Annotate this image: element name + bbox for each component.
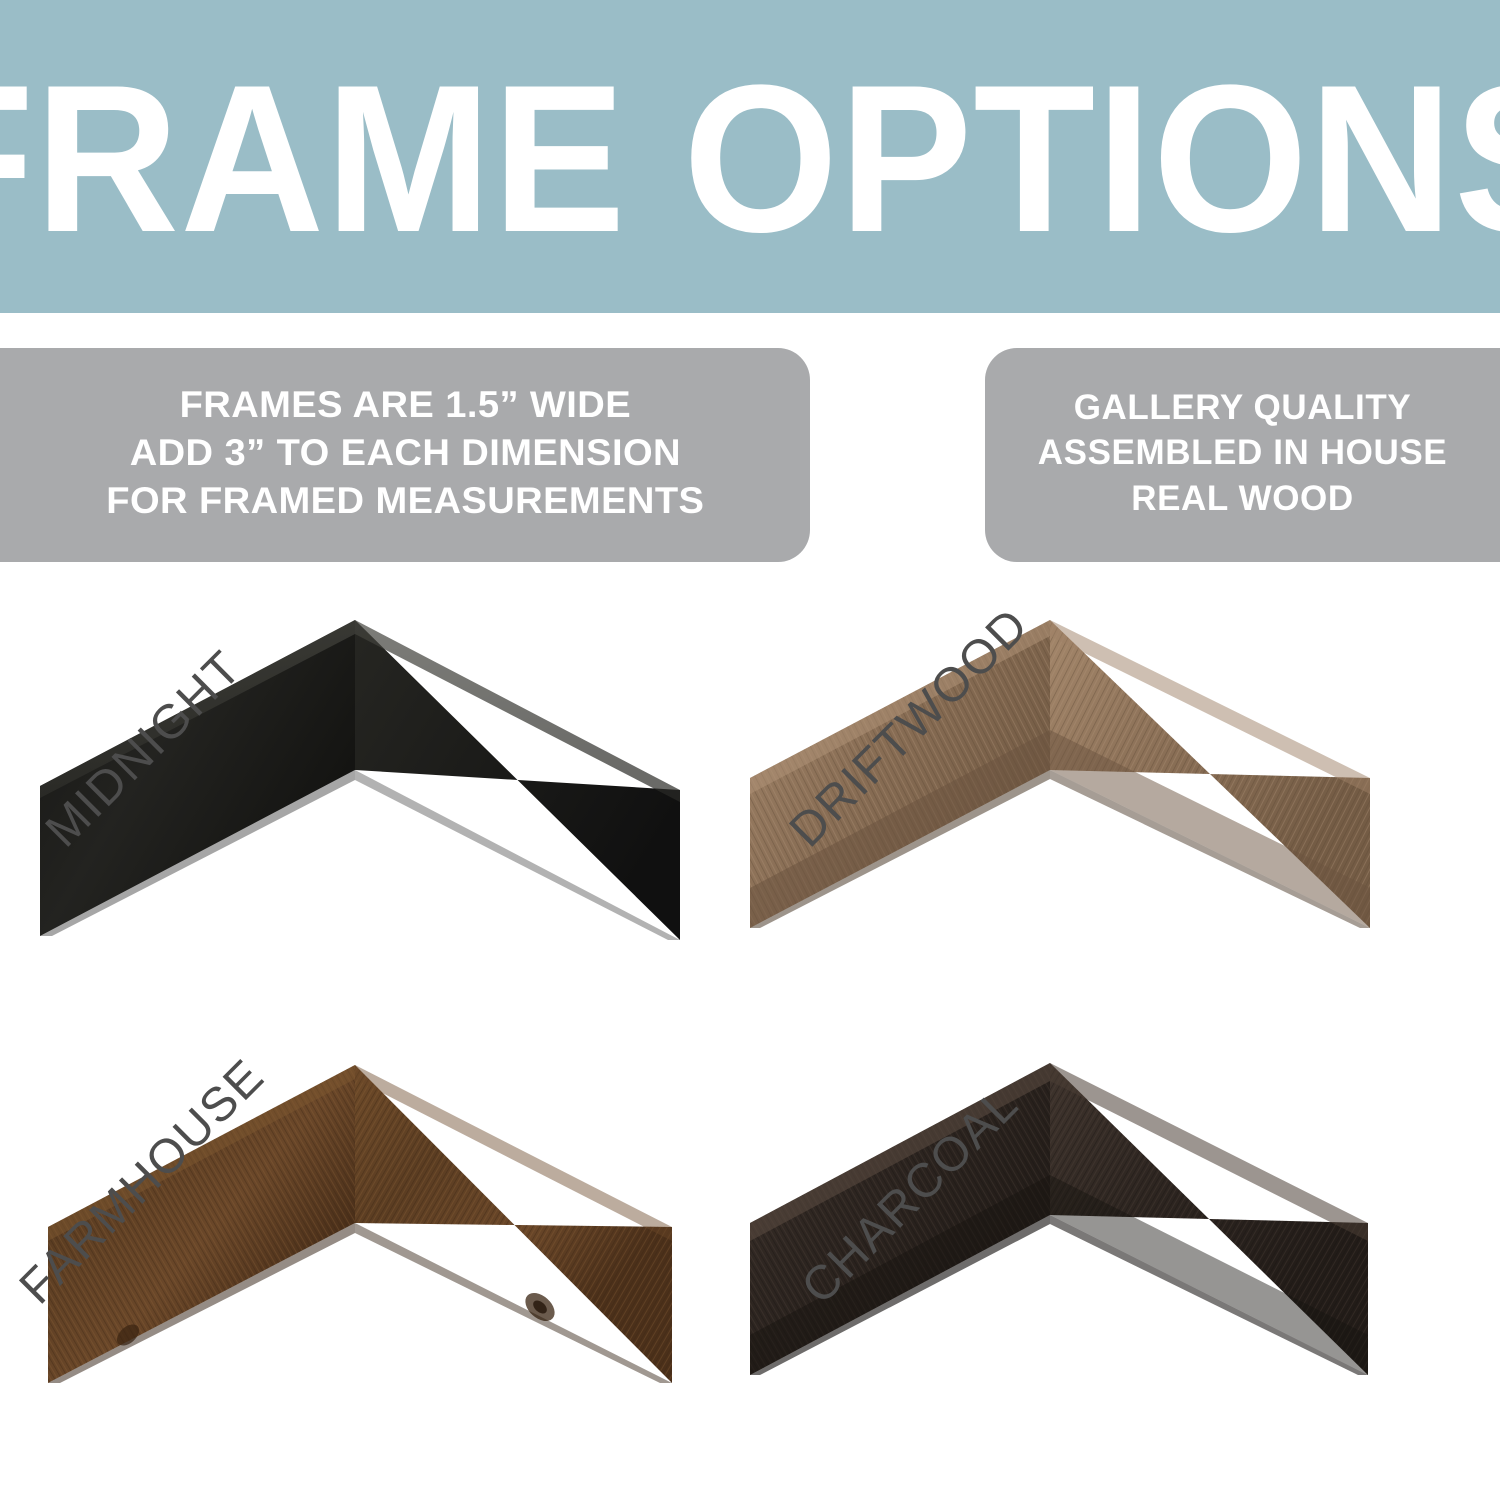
frame-sample-midnight[interactable]: MIDNIGHT [0,598,750,998]
info-box-measurements-text: FRAMES ARE 1.5” WIDE ADD 3” TO EACH DIME… [106,381,704,529]
header-banner: FRAME OPTIONS [0,0,1500,313]
frame-sample-driftwood[interactable]: DRIFTWOOD [750,598,1500,998]
infographic-page: FRAME OPTIONS FRAMES ARE 1.5” WIDE ADD 3… [0,0,1500,1500]
info-box-measurements: FRAMES ARE 1.5” WIDE ADD 3” TO EACH DIME… [0,348,810,562]
frame-sample-farmhouse[interactable]: FARMHOUSE [0,1045,750,1445]
info-box-quality-text: GALLERY QUALITY ASSEMBLED IN HOUSE REAL … [1038,385,1447,526]
page-title: FRAME OPTIONS [0,53,1500,263]
frame-sample-charcoal[interactable]: CHARCOAL [750,1045,1500,1445]
info-box-quality: GALLERY QUALITY ASSEMBLED IN HOUSE REAL … [985,348,1500,562]
